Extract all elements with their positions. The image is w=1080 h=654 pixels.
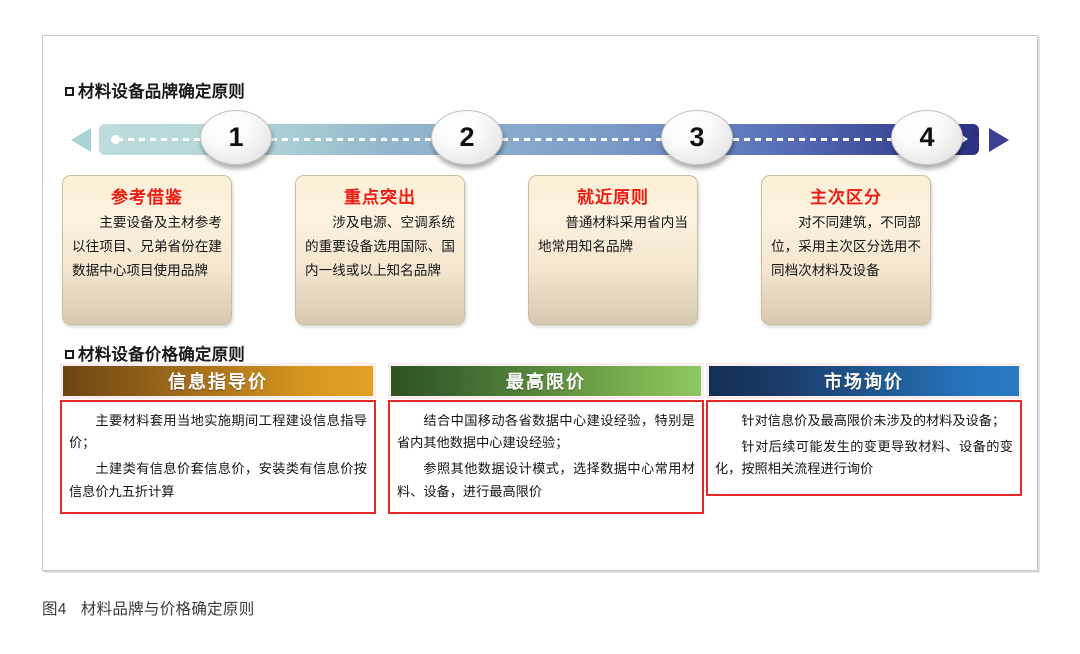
brand-card: 参考借鉴 主要设备及主材参考以往项目、兄弟省份在建数据中心项目使用品牌: [62, 175, 232, 325]
price-block-header: 信息指导价: [63, 366, 373, 396]
brand-card: 重点突出 涉及电源、空调系统的重要设备选用国际、国内一线或以上知名品牌: [295, 175, 465, 325]
price-block: 市场询价 针对信息价及最高限价未涉及的材料及设备； 针对后续可能发生的变更导致材…: [706, 363, 1022, 496]
brand-card-body: 主要设备及主材参考以往项目、兄弟省份在建数据中心项目使用品牌: [72, 211, 222, 284]
price-block: 信息指导价 主要材料套用当地实施期间工程建设信息指导价； 土建类有信息价套信息价…: [60, 363, 376, 514]
arrow-left-icon: [71, 128, 91, 152]
price-paragraph: 针对信息价及最高限价未涉及的材料及设备；: [715, 410, 1013, 432]
price-section-heading: 材料设备价格确定原则: [65, 341, 245, 365]
figure-caption: 图4材料品牌与价格确定原则: [42, 597, 255, 619]
brand-card: 主次区分 对不同建筑，不同部位，采用主次区分选用不同档次材料及设备: [761, 175, 931, 325]
price-paragraph: 参照其他数据设计模式，选择数据中心常用材料、设备，进行最高限价: [397, 458, 695, 502]
price-paragraph: 针对后续可能发生的变更导致材料、设备的变化，按照相关流程进行询价: [715, 436, 1013, 480]
figure-caption-text: 材料品牌与价格确定原则: [81, 601, 255, 618]
brand-card-title: 参考借鉴: [72, 183, 222, 208]
square-bullet-icon: [65, 350, 74, 359]
process-step-4[interactable]: 4: [891, 110, 963, 165]
brand-section-heading-label: 材料设备品牌确定原则: [78, 83, 245, 101]
price-block: 最高限价 结合中国移动各省数据中心建设经验，特别是省内其他数据中心建设经验； 参…: [388, 363, 704, 514]
process-step-4-label: 4: [919, 122, 934, 153]
price-block-body: 结合中国移动各省数据中心建设经验，特别是省内其他数据中心建设经验； 参照其他数据…: [388, 400, 704, 514]
price-header-frame: 市场询价: [706, 363, 1022, 399]
brand-card-title: 就近原则: [538, 183, 688, 208]
price-block-title: 市场询价: [824, 368, 904, 394]
arrow-right-icon: [989, 128, 1009, 152]
brand-card-body: 涉及电源、空调系统的重要设备选用国际、国内一线或以上知名品牌: [305, 211, 455, 284]
brand-card-body: 普通材料采用省内当地常用知名品牌: [538, 211, 688, 259]
square-bullet-icon: [65, 87, 74, 96]
brand-card-body: 对不同建筑，不同部位，采用主次区分选用不同档次材料及设备: [771, 211, 921, 284]
price-paragraph: 土建类有信息价套信息价，安装类有信息价按信息价九五折计算: [69, 458, 367, 502]
price-block-body: 主要材料套用当地实施期间工程建设信息指导价； 土建类有信息价套信息价，安装类有信…: [60, 400, 376, 514]
brand-section-heading: 材料设备品牌确定原则: [65, 78, 245, 102]
price-paragraph: 结合中国移动各省数据中心建设经验，特别是省内其他数据中心建设经验；: [397, 410, 695, 454]
brand-card: 就近原则 普通材料采用省内当地常用知名品牌: [528, 175, 698, 325]
price-block-header: 最高限价: [391, 366, 701, 396]
process-step-3[interactable]: 3: [661, 110, 733, 165]
price-header-frame: 最高限价: [388, 363, 704, 399]
figure-frame: 材料设备品牌确定原则 1 2 3 4 参考借鉴 主要设备及主材参考以往项目、兄弟…: [42, 35, 1038, 571]
process-step-2[interactable]: 2: [431, 110, 503, 165]
brand-card-title: 重点突出: [305, 183, 455, 208]
process-step-1-label: 1: [228, 122, 243, 153]
process-step-1[interactable]: 1: [200, 110, 272, 165]
price-header-frame: 信息指导价: [60, 363, 376, 399]
price-block-header: 市场询价: [709, 366, 1019, 396]
process-step-2-label: 2: [459, 122, 474, 153]
price-section-heading-label: 材料设备价格确定原则: [78, 346, 245, 364]
process-step-3-label: 3: [689, 122, 704, 153]
process-bar: 1 2 3 4: [63, 115, 1018, 163]
figure-caption-label: 图4: [42, 601, 67, 618]
price-block-title: 最高限价: [506, 368, 586, 394]
price-paragraph: 主要材料套用当地实施期间工程建设信息指导价；: [69, 410, 367, 454]
price-block-body: 针对信息价及最高限价未涉及的材料及设备； 针对后续可能发生的变更导致材料、设备的…: [706, 400, 1022, 496]
brand-card-title: 主次区分: [771, 183, 921, 208]
price-block-title: 信息指导价: [168, 368, 268, 394]
process-bar-start-dot-icon: [111, 135, 120, 144]
